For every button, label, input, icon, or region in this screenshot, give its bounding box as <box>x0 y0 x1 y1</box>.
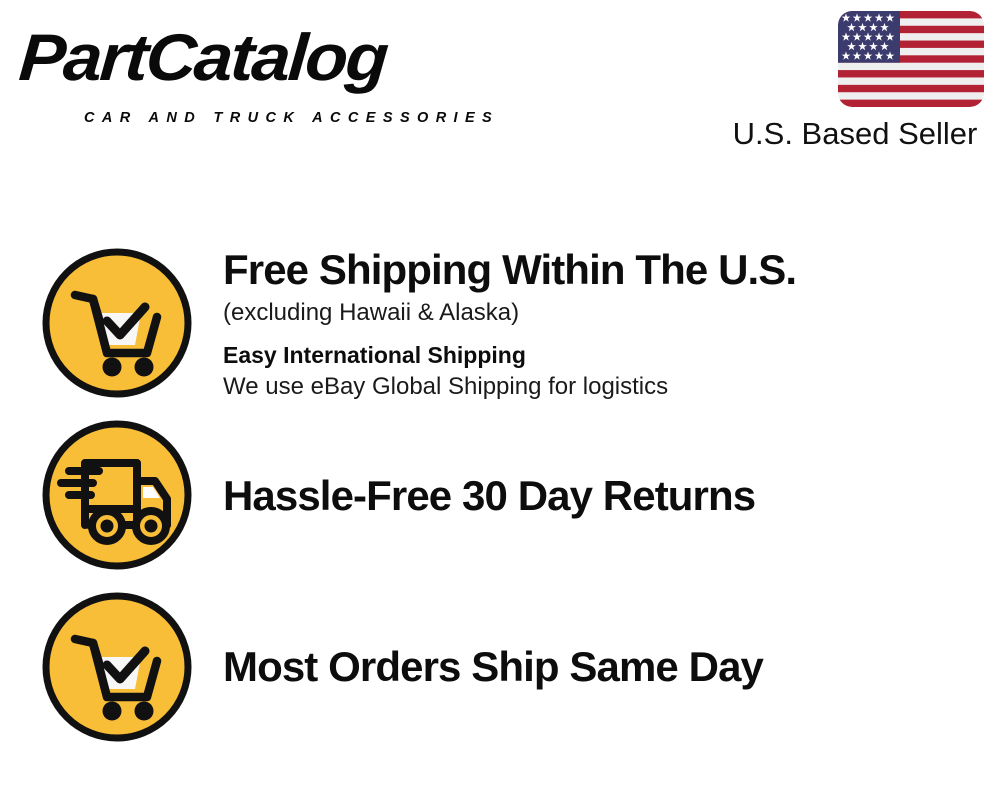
us-flag-icon <box>838 11 984 107</box>
benefit-headline: Free Shipping Within The U.S. <box>223 245 980 294</box>
benefit-subline: (excluding Hawaii & Alaska) <box>223 297 980 328</box>
benefit-text-block: Most Orders Ship Same Day <box>223 642 1000 691</box>
delivery-truck-icon <box>41 419 193 571</box>
benefit-text-block: Free Shipping Within The U.S. (excluding… <box>223 245 1000 402</box>
benefit-subline-strong: Easy International Shipping <box>223 340 980 370</box>
benefit-row: Hassle-Free 30 Day Returns <box>0 417 1000 573</box>
benefit-row: Most Orders Ship Same Day <box>0 588 1000 745</box>
shopping-cart-check-icon <box>41 591 193 743</box>
shopping-cart-check-icon <box>41 247 193 399</box>
benefit-headline: Hassle-Free 30 Day Returns <box>223 471 980 520</box>
brand-logo[interactable]: PartCatalog CAR AND TRUCK ACCESSORIES <box>22 22 492 112</box>
brand-wordmark: PartCatalog <box>17 22 389 92</box>
page-header: PartCatalog CAR AND TRUCK ACCESSORIES <box>0 0 1000 170</box>
us-based-seller-label: U.S. Based Seller <box>724 116 986 152</box>
benefit-subline-plain: We use eBay Global Shipping for logistic… <box>223 371 980 402</box>
benefit-headline: Most Orders Ship Same Day <box>223 642 980 691</box>
benefit-row: Free Shipping Within The U.S. (excluding… <box>0 245 1000 401</box>
benefit-text-block: Hassle-Free 30 Day Returns <box>223 471 1000 520</box>
brand-tagline: CAR AND TRUCK ACCESSORIES <box>84 110 499 126</box>
